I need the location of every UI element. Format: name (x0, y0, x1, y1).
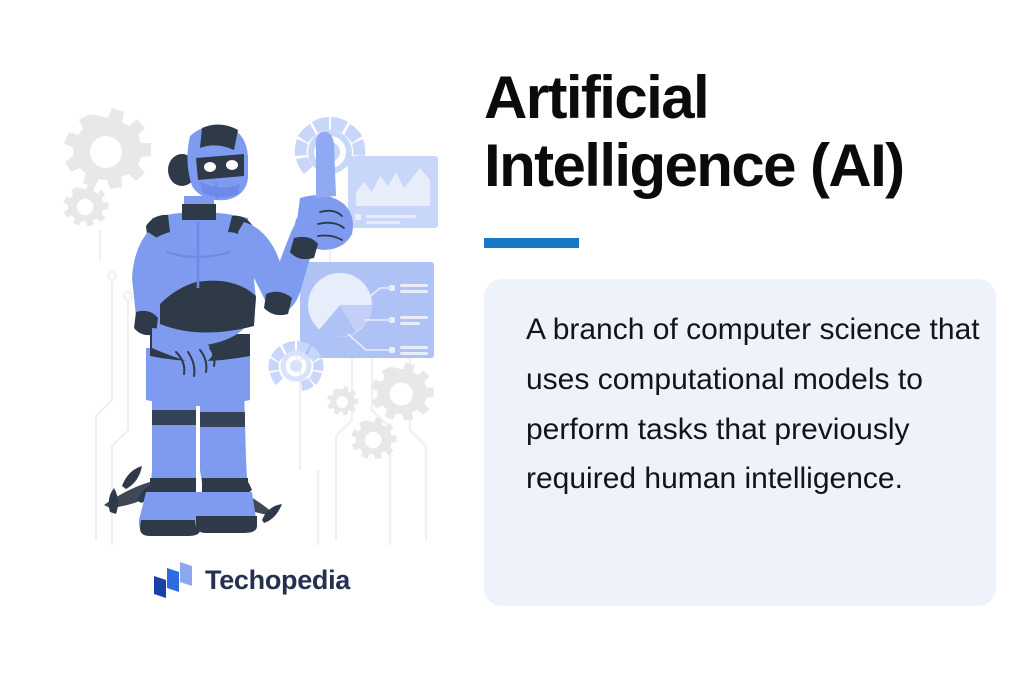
page-title: Artificial Intelligence (AI) (484, 64, 1004, 200)
gear-medium-lower (351, 417, 396, 459)
techopedia-logo[interactable]: Techopedia (150, 558, 350, 602)
robot-head (168, 124, 248, 200)
accent-bar (484, 238, 579, 248)
definition-card: A branch of computer science that uses c… (484, 279, 996, 606)
gear-small-right (327, 386, 358, 415)
ring-progress-widget (269, 341, 324, 391)
content-panel: Artificial Intelligence (AI) A branch of… (470, 0, 1024, 678)
page-title-line-1: Artificial (484, 64, 1004, 132)
gear-medium (371, 362, 434, 420)
techopedia-wordmark: Techopedia (205, 567, 350, 594)
area-chart-widget (348, 156, 438, 228)
pie-chart-widget (300, 262, 434, 358)
gear-small (63, 184, 108, 226)
techopedia-logo-mark-icon (150, 560, 196, 600)
infographic-canvas: Techopedia Artificial Intelligence (AI) … (0, 0, 1024, 678)
definition-text: A branch of computer science that uses c… (526, 305, 981, 504)
page-title-line-2: Intelligence (AI) (484, 132, 1004, 200)
gear-large (64, 108, 151, 189)
